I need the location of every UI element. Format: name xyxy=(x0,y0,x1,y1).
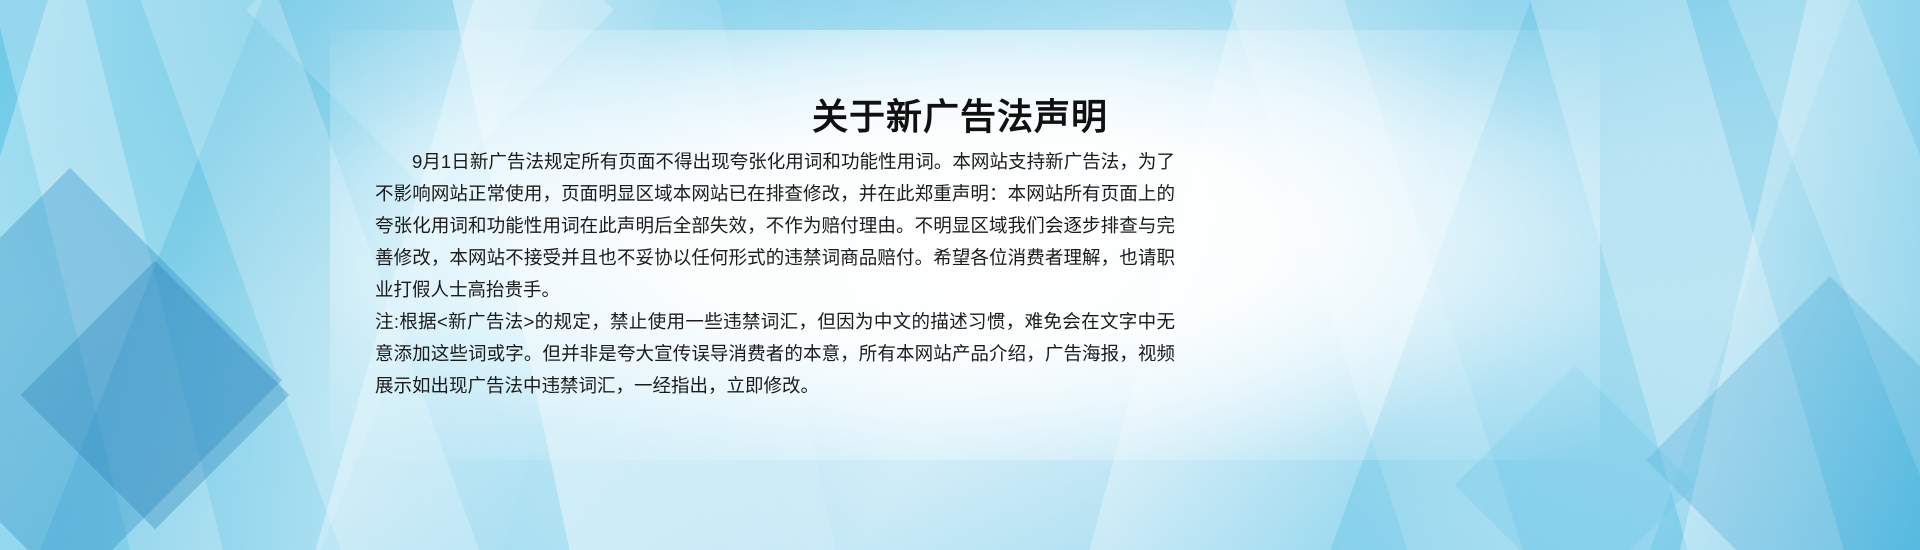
statement-body: 9月1日新广告法规定所有页面不得出现夸张化用词和功能性用词。本网站支持新广告法，… xyxy=(375,146,1175,402)
statement-paragraph-note: 注:根据<新广告法>的规定，禁止使用一些违禁词汇，但因为中文的描述习惯，难免会在… xyxy=(375,306,1175,402)
statement-paragraph-main: 9月1日新广告法规定所有页面不得出现夸张化用词和功能性用词。本网站支持新广告法，… xyxy=(375,146,1175,306)
statement-content: 关于新广告法声明 9月1日新广告法规定所有页面不得出现夸张化用词和功能性用词。本… xyxy=(0,0,1920,550)
advertising-law-statement-banner: 关于新广告法声明 9月1日新广告法规定所有页面不得出现夸张化用词和功能性用词。本… xyxy=(0,0,1920,550)
page-title: 关于新广告法声明 xyxy=(0,88,1920,140)
